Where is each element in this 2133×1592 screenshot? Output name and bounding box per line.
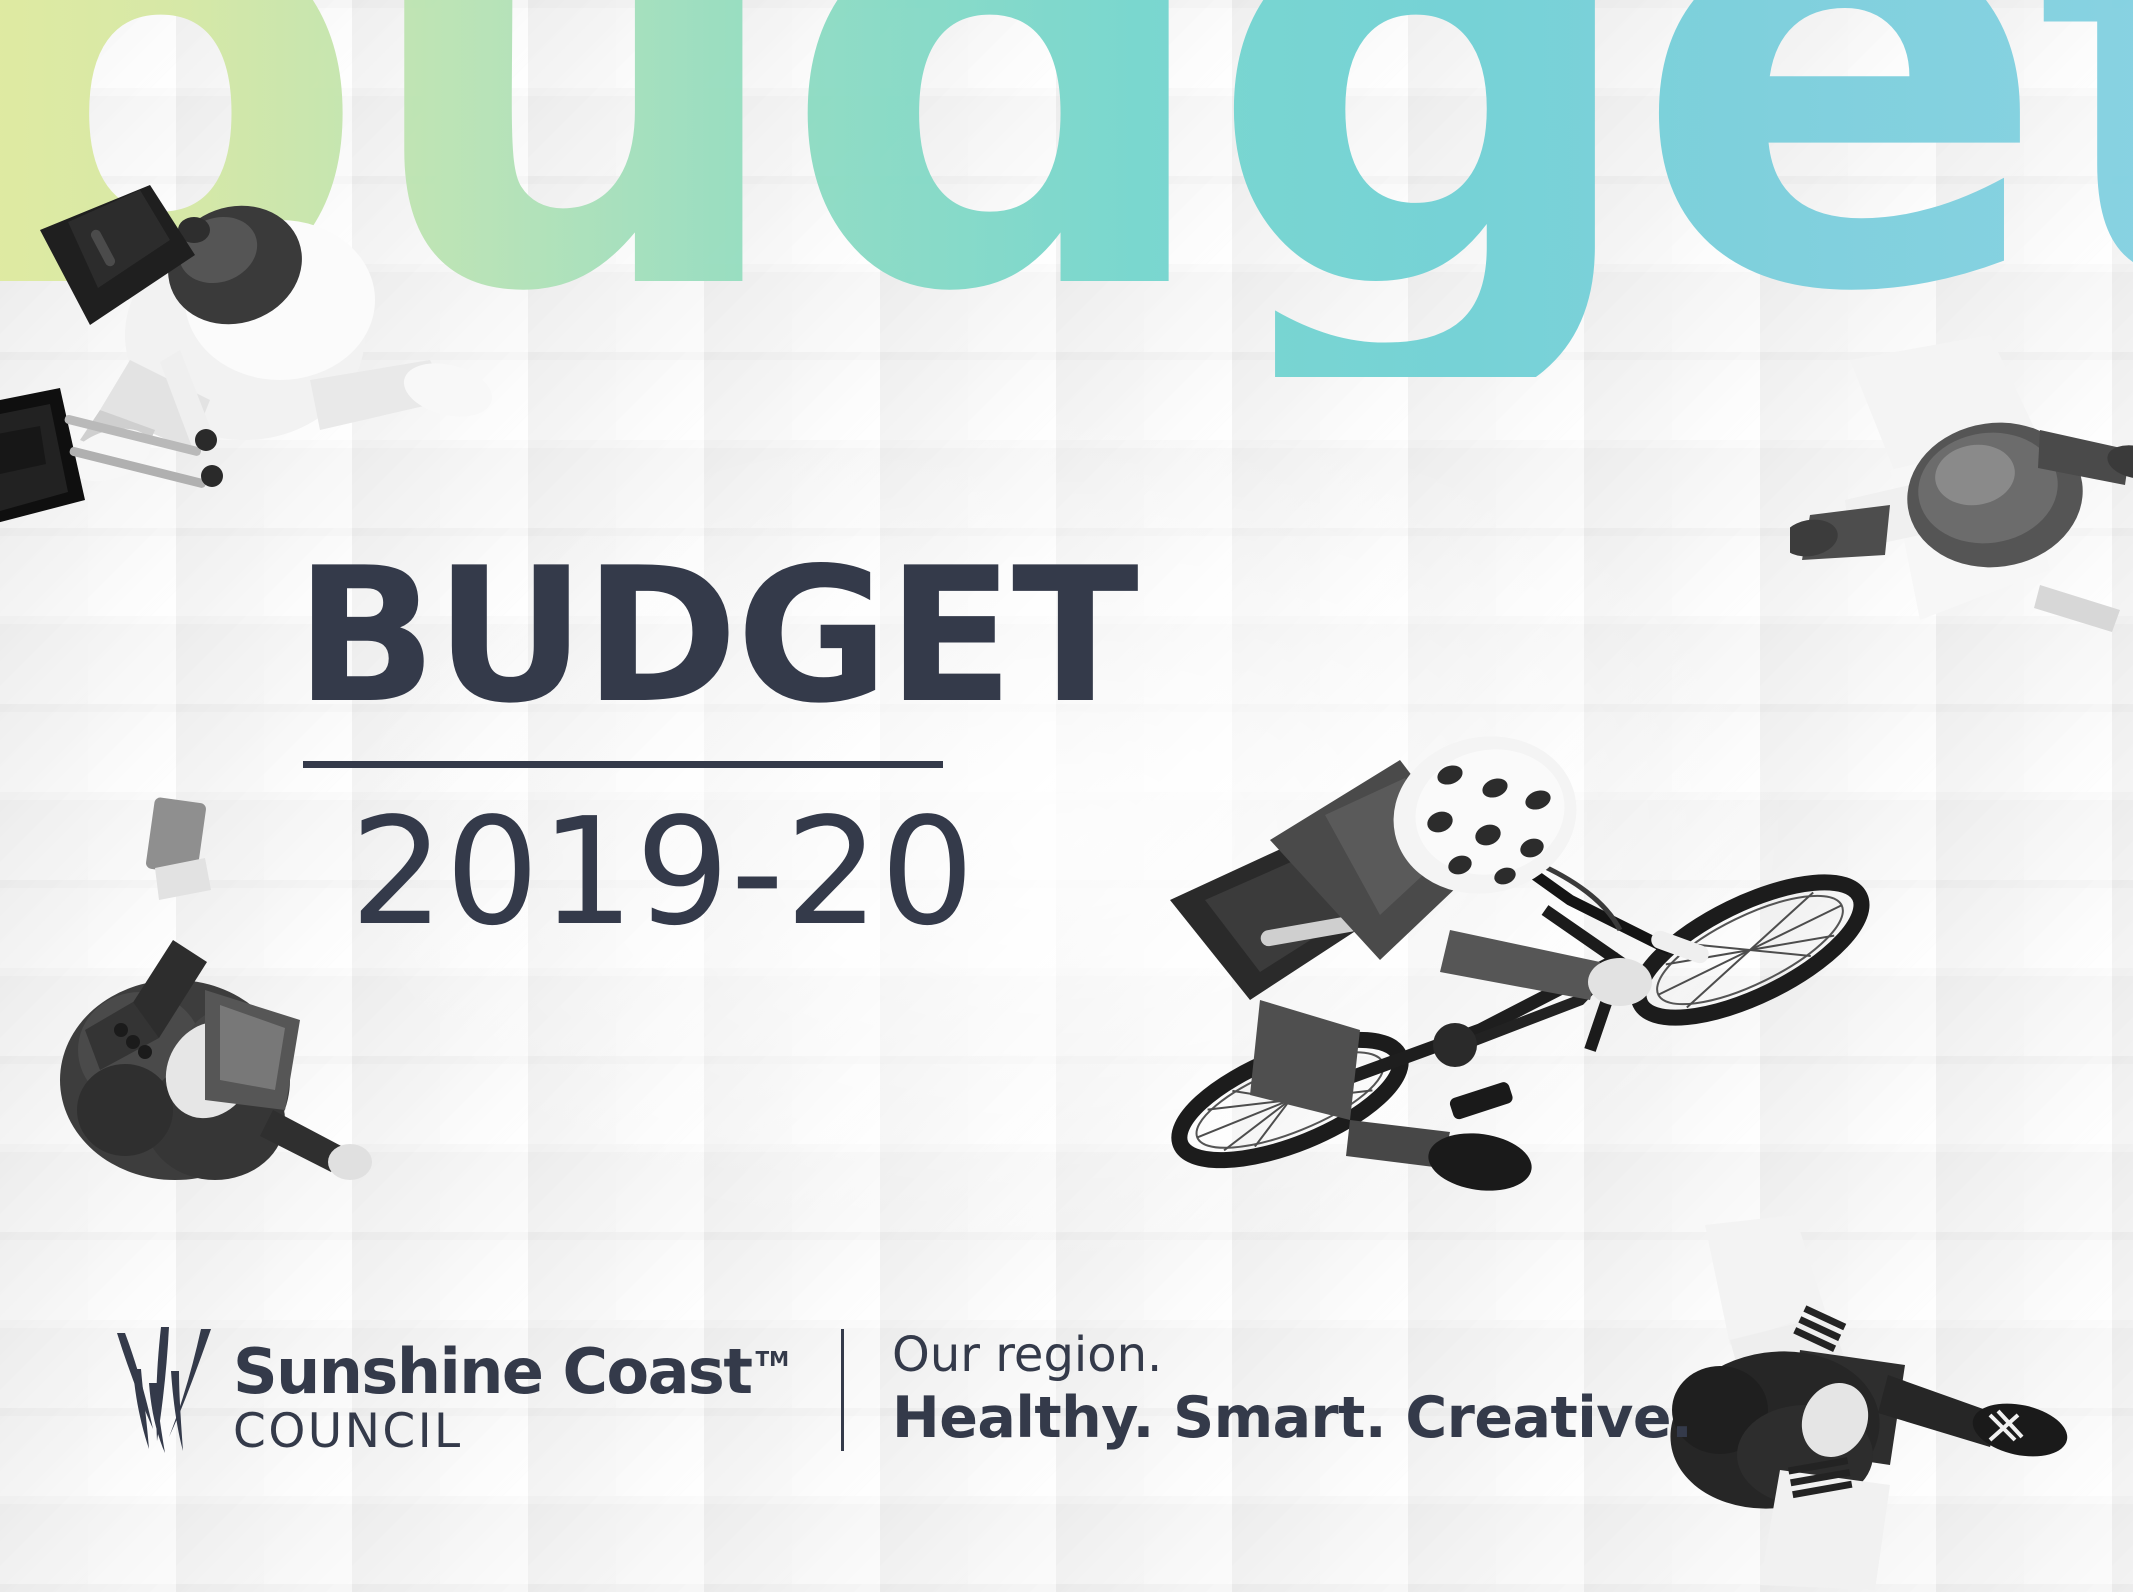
grass-mark-icon [113,1325,219,1455]
figure-rolling-suitcase [0,380,230,580]
logo-line-sunshine-coast: Sunshine Coast TM [233,1341,789,1403]
tagline-healthy-smart-creative: Healthy. Smart. Creative. [892,1388,1692,1450]
tagline-our-region: Our region. [892,1330,1692,1382]
logo-line1-text: Sunshine Coast [233,1341,751,1403]
page-title: BUDGET [295,548,1055,725]
budget-poster: budget [0,0,2133,1592]
dancer-silhouette-svg [1650,1215,2070,1592]
tagline-block: Our region. Healthy. Smart. Creative. [892,1330,1692,1449]
title-block: BUDGET 2019-20 [295,548,1055,946]
trademark-symbol: TM [755,1349,789,1369]
footer-lockup: Sunshine Coast TM COUNCIL Our region. He… [113,1325,1692,1455]
figure-crouching-man [1790,320,2133,650]
budget-year: 2019-20 [350,798,1055,946]
footer-vertical-divider [841,1329,844,1451]
suitcase-silhouette-svg [0,380,230,580]
crouching-man-silhouette-svg [1790,320,2133,650]
logo-wordmark: Sunshine Coast TM COUNCIL [233,1341,789,1455]
figure-mountain-biker [1150,700,1870,1220]
logo-line-council: COUNCIL [233,1408,789,1455]
cyclist-silhouette-svg [1150,700,1870,1220]
figure-dancer [1650,1215,2070,1592]
sunshine-coast-council-logo[interactable]: Sunshine Coast TM COUNCIL [113,1325,789,1455]
title-divider-rule [303,761,943,768]
